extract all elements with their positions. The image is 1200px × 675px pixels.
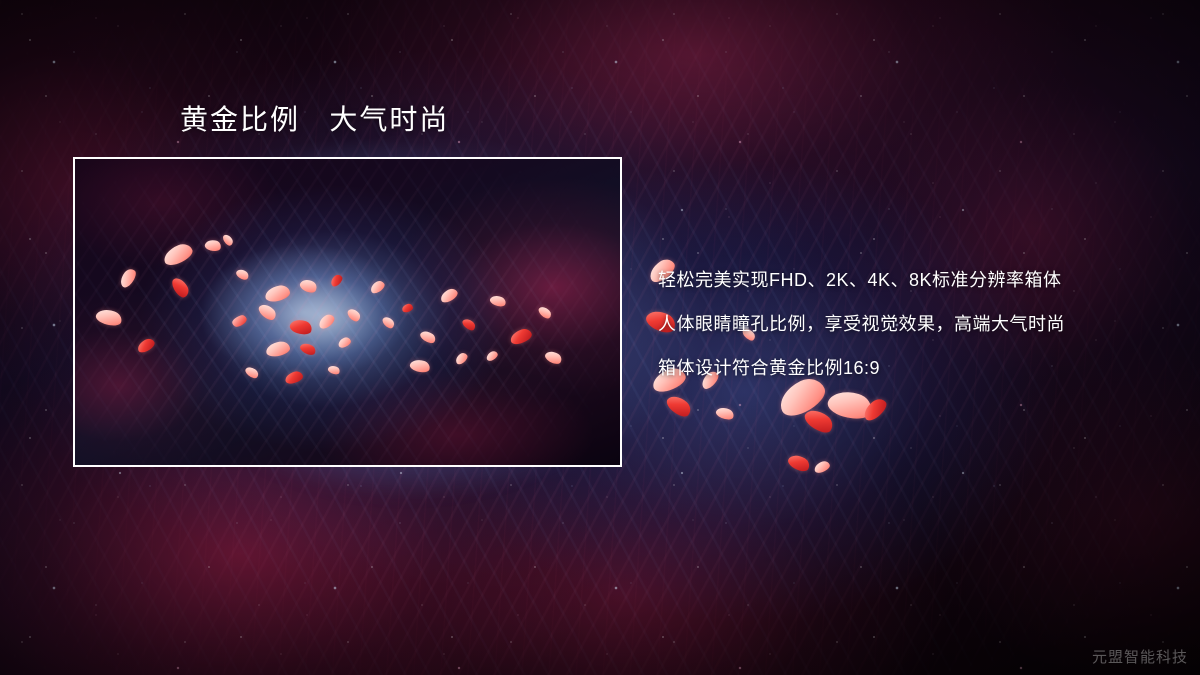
body-line-3: 箱体设计符合黄金比例16:9 (658, 346, 1178, 390)
body-line-2: 人体眼睛瞳孔比例，享受视觉效果，高端大气时尚 (658, 302, 1178, 346)
presentation-slide: 黄金比例 大气时尚 轻松完美实现FHD、2K、4K、8K标准分辨率箱体 人体眼睛… (0, 0, 1200, 675)
body-line-1: 轻松完美实现FHD、2K、4K、8K标准分辨率箱体 (658, 258, 1178, 302)
page-title: 黄金比例 大气时尚 (180, 103, 449, 137)
body-copy: 轻松完美实现FHD、2K、4K、8K标准分辨率箱体 人体眼睛瞳孔比例，享受视觉效… (658, 258, 1178, 390)
watermark: 元盟智能科技 (1092, 646, 1188, 667)
